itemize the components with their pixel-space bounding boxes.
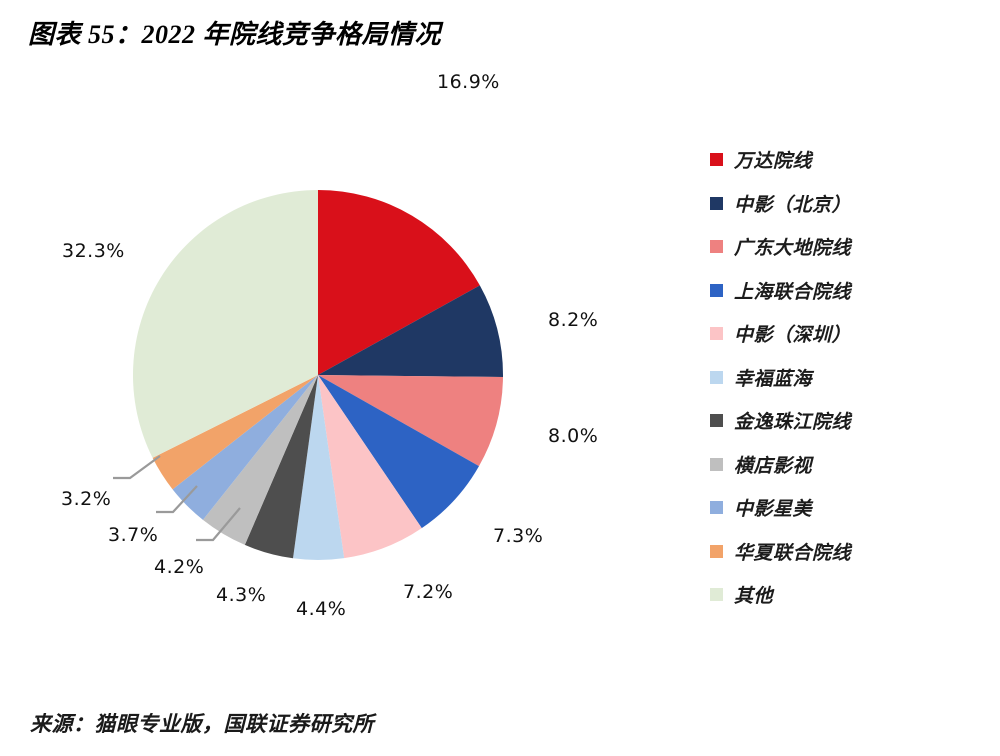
pie-data-label-huaxia-lianhe: 3.2% [61,488,111,510]
legend-item-label: 中影（深圳） [734,320,851,347]
pie-data-label-xingfu-lanhai: 4.4% [296,598,346,620]
legend-swatch-icon [710,501,723,514]
pie-data-label-hengdian-yingshi: 4.2% [154,556,204,578]
legend-item-label: 金逸珠江院线 [734,407,851,434]
pie-data-label-other: 32.3% [62,240,125,262]
pie-slice-group [133,190,503,560]
legend-swatch-icon [710,545,723,558]
legend-item-label: 幸福蓝海 [734,364,812,391]
legend-item[interactable]: 华夏联合院线 [710,530,990,574]
label-leader-line [113,456,160,478]
legend-item[interactable]: 幸福蓝海 [710,356,990,400]
chart-legend: 万达院线中影（北京）广东大地院线上海联合院线中影（深圳）幸福蓝海金逸珠江院线横店… [710,138,990,617]
legend-item[interactable]: 金逸珠江院线 [710,399,990,443]
legend-item[interactable]: 广东大地院线 [710,225,990,269]
legend-swatch-icon [710,240,723,253]
legend-swatch-icon [710,458,723,471]
legend-swatch-icon [710,197,723,210]
pie-data-label-wanda: 16.9% [437,71,500,93]
legend-item-label: 中影星美 [734,494,812,521]
legend-item-label: 广东大地院线 [734,233,851,260]
page-title: 图表 55：2022 年院线竞争格局情况 [28,14,441,51]
pie-data-label-zhongying-beijing: 8.2% [548,309,598,331]
legend-swatch-icon [710,284,723,297]
chart-plot-area: 16.9% 8.2% 8.0% 7.3% 7.2% 4.4% 4.3% 4.2%… [0,60,700,680]
legend-item-label: 上海联合院线 [734,277,851,304]
pie-chart-svg [0,60,700,680]
legend-item[interactable]: 横店影视 [710,443,990,487]
legend-item[interactable]: 中影（北京） [710,182,990,226]
legend-swatch-icon [710,153,723,166]
legend-item[interactable]: 万达院线 [710,138,990,182]
source-note: 来源：猫眼专业版，国联证券研究所 [30,708,374,738]
legend-item-label: 中影（北京） [734,190,851,217]
pie-data-label-zhongying-xingmei: 3.7% [108,524,158,546]
legend-item-label: 万达院线 [734,146,812,173]
legend-item[interactable]: 其他 [710,573,990,617]
legend-item[interactable]: 上海联合院线 [710,269,990,313]
legend-swatch-icon [710,327,723,340]
legend-item-label: 横店影视 [734,451,812,478]
legend-item-label: 华夏联合院线 [734,538,851,565]
pie-data-label-jinyi-zhujiang: 4.3% [216,584,266,606]
legend-item[interactable]: 中影（深圳） [710,312,990,356]
pie-data-label-guangdong-dadi: 8.0% [548,425,598,447]
pie-data-label-zhongying-shenzhen: 7.2% [403,581,453,603]
legend-item-label: 其他 [734,581,773,608]
legend-item[interactable]: 中影星美 [710,486,990,530]
legend-swatch-icon [710,414,723,427]
legend-swatch-icon [710,588,723,601]
legend-swatch-icon [710,371,723,384]
pie-data-label-shanghai-lianhe: 7.3% [493,525,543,547]
